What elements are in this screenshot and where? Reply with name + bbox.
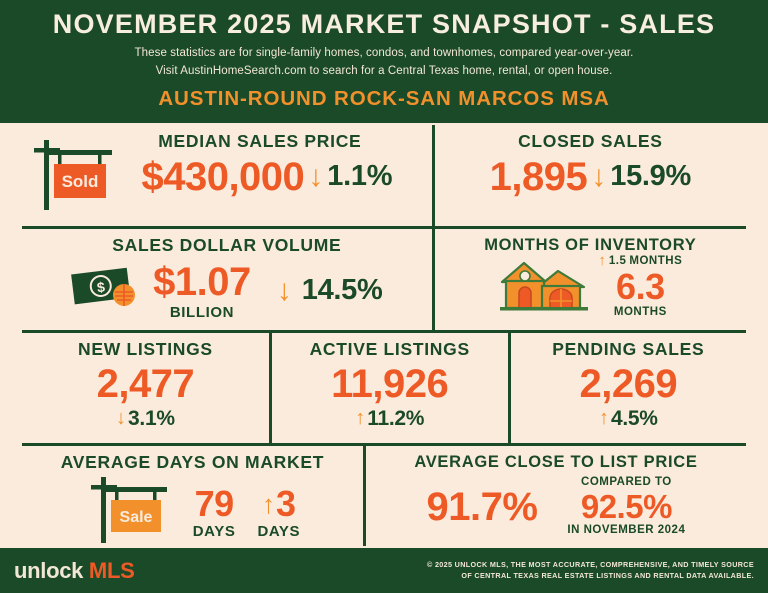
copyright: © 2025 UNLOCK MLS, THE MOST ACCURATE, CO… <box>427 560 754 582</box>
stat-average-close-to-list-price: AVERAGE CLOSE TO LIST PRICE 91.7% COMPAR… <box>366 446 746 546</box>
market-snapshot-infographic: NOVEMBER 2025 MARKET SNAPSHOT - SALES Th… <box>0 0 768 593</box>
stat-title: CLOSED SALES <box>518 132 663 151</box>
stat-title: AVERAGE DAYS ON MARKET <box>61 453 324 472</box>
header-subtitle-line2: Visit AustinHomeSearch.com to search for… <box>10 63 758 81</box>
down-arrow-icon: ↓ <box>591 164 606 190</box>
stat-closed-sales: CLOSED SALES 1,895 ↓ 15.9% <box>435 125 746 226</box>
stat-average-days-on-market: AVERAGE DAYS ON MARKET Sale <box>22 446 366 546</box>
sale-sign-icon: Sale <box>85 475 171 550</box>
days-on-market-change-unit: DAYS <box>257 524 300 539</box>
stat-sales-dollar-volume: SALES DOLLAR VOLUME $ <box>22 229 435 330</box>
sales-volume-unit: BILLION <box>170 305 234 320</box>
region-label: AUSTIN-ROUND ROCK-SAN MARCOS MSA <box>10 87 758 111</box>
stat-title: AVERAGE CLOSE TO LIST PRICE <box>414 453 697 471</box>
logo-primary: unlock <box>14 558 89 583</box>
footer: unlock MLS © 2025 UNLOCK MLS, THE MOST A… <box>0 548 768 593</box>
header-subtitle-line1: These statistics are for single-family h… <box>10 45 758 63</box>
close-to-list-value: 91.7% <box>427 487 538 527</box>
pending-sales-value: 2,269 <box>580 364 678 404</box>
stat-pending-sales: PENDING SALES 2,269 ↑ 4.5% <box>511 333 746 443</box>
stat-active-listings: ACTIVE LISTINGS 11,926 ↑ 11.2% <box>272 333 511 443</box>
copyright-line2: OF CENTRAL TEXAS REAL ESTATE LISTINGS AN… <box>427 571 754 582</box>
house-icon <box>498 256 590 319</box>
stat-title: PENDING SALES <box>552 340 704 359</box>
stats-row-1: Sold MEDIAN SALES PRICE $430,000 ↓ 1.1% … <box>22 125 746 229</box>
svg-text:Sold: Sold <box>62 172 99 191</box>
up-arrow-icon: ↑ <box>599 410 609 427</box>
stat-median-sales-price: Sold MEDIAN SALES PRICE $430,000 ↓ 1.1% <box>22 125 435 226</box>
sales-volume-value: $1.07 <box>153 262 251 302</box>
up-arrow-icon: ↑ <box>355 410 365 427</box>
inventory-unit: MONTHS <box>614 307 667 319</box>
median-price-change: 1.1% <box>327 162 392 191</box>
money-bill-icon: $ <box>71 265 143 316</box>
header: NOVEMBER 2025 MARKET SNAPSHOT - SALES Th… <box>0 0 768 123</box>
stats-row-2: SALES DOLLAR VOLUME $ <box>22 229 746 333</box>
sold-sign-icon: Sold <box>28 136 114 217</box>
closed-sales-change: 15.9% <box>610 162 691 191</box>
stat-months-of-inventory: MONTHS OF INVENTORY <box>435 229 746 330</box>
stat-title: ACTIVE LISTINGS <box>310 340 470 359</box>
down-arrow-icon: ↓ <box>308 164 323 190</box>
down-arrow-icon: ↓ <box>116 410 126 427</box>
stat-new-listings: NEW LISTINGS 2,477 ↓ 3.1% <box>22 333 272 443</box>
median-price-value: $430,000 <box>141 157 304 197</box>
stat-title: NEW LISTINGS <box>78 340 213 359</box>
compared-period: IN NOVEMBER 2024 <box>567 525 685 537</box>
stat-title: MEDIAN SALES PRICE <box>158 132 361 151</box>
copyright-line1: © 2025 UNLOCK MLS, THE MOST ACCURATE, CO… <box>427 560 754 571</box>
new-listings-change: 3.1% <box>128 408 175 429</box>
compared-value: 92.5% <box>581 490 672 523</box>
stats-row-3: NEW LISTINGS 2,477 ↓ 3.1% ACTIVE LISTING… <box>22 333 746 446</box>
days-on-market-unit: DAYS <box>193 524 236 539</box>
svg-text:Sale: Sale <box>119 509 152 526</box>
up-arrow-icon: ↑ <box>598 255 606 268</box>
active-listings-change: 11.2% <box>367 408 424 429</box>
up-arrow-icon: ↑ <box>262 493 275 515</box>
inventory-value: 6.3 <box>616 269 665 305</box>
stat-title: MONTHS OF INVENTORY <box>484 236 696 254</box>
stat-title: SALES DOLLAR VOLUME <box>112 236 341 255</box>
logo-secondary: MLS <box>89 558 135 583</box>
pending-sales-change: 4.5% <box>611 408 658 429</box>
page-title: NOVEMBER 2025 MARKET SNAPSHOT - SALES <box>10 10 758 40</box>
closed-sales-value: 1,895 <box>490 157 588 197</box>
new-listings-value: 2,477 <box>97 364 195 404</box>
days-on-market-change: 3 <box>276 486 296 522</box>
days-on-market-value: 79 <box>195 486 234 522</box>
active-listings-value: 11,926 <box>331 364 448 404</box>
down-arrow-icon: ↓ <box>277 278 292 304</box>
stats-body: Sold MEDIAN SALES PRICE $430,000 ↓ 1.1% … <box>0 123 768 548</box>
stats-row-4: AVERAGE DAYS ON MARKET Sale <box>22 446 746 546</box>
sales-volume-change: 14.5% <box>302 276 383 305</box>
unlock-mls-logo: unlock MLS <box>14 558 134 584</box>
